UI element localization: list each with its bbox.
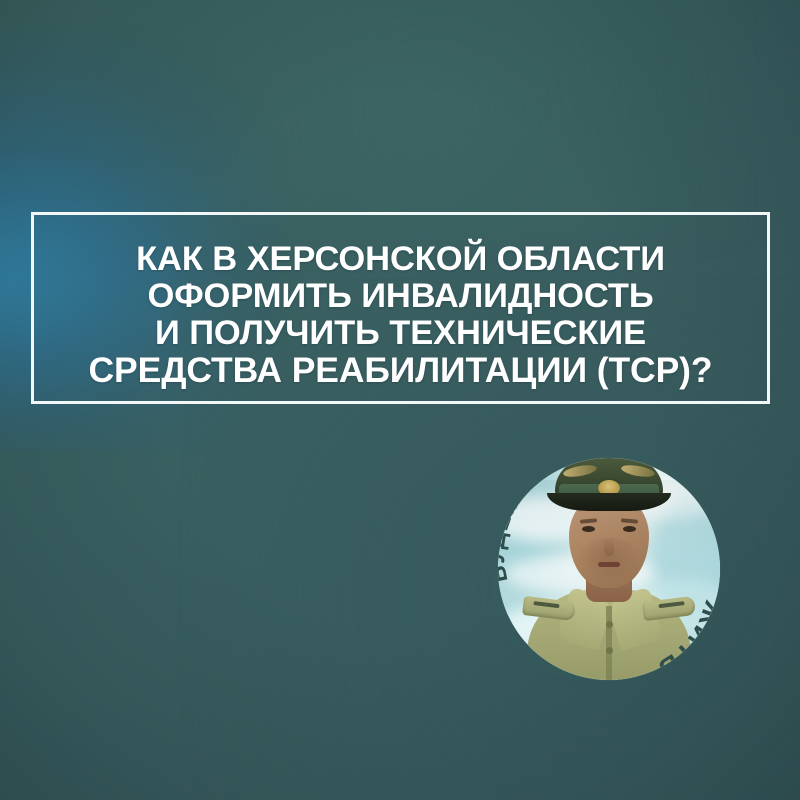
budem-zhit-badge: БУДЕМ ЖИТЬ — [498, 458, 720, 680]
poster-canvas: КАК В ХЕРСОНСКОЙ ОБЛАСТИ ОФОРМИТЬ ИНВАЛИ… — [0, 0, 800, 800]
headline-line-1: КАК В ХЕРСОНСКОЙ ОБЛАСТИ — [34, 241, 767, 278]
headline-line-4: СРЕДСТВА РЕАБИЛИТАЦИИ (ТСР)? — [34, 352, 767, 389]
badge-text-top: БУДЕМ — [498, 488, 527, 585]
headline-frame: КАК В ХЕРСОНСКОЙ ОБЛАСТИ ОФОРМИТЬ ИНВАЛИ… — [31, 212, 770, 404]
badge-text-bottom: ЖИТЬ — [653, 596, 720, 680]
badge-text-bottom-path: ЖИТЬ — [653, 596, 720, 680]
headline-text-stack: КАК В ХЕРСОНСКОЙ ОБЛАСТИ ОФОРМИТЬ ИНВАЛИ… — [34, 241, 767, 389]
badge-text-top-path: БУДЕМ — [498, 488, 527, 585]
badge-curved-text: БУДЕМ ЖИТЬ — [498, 458, 720, 680]
headline-line-2: ОФОРМИТЬ ИНВАЛИДНОСТЬ — [34, 278, 767, 315]
headline-line-3: И ПОЛУЧИТЬ ТЕХНИЧЕСКИЕ — [34, 315, 767, 352]
